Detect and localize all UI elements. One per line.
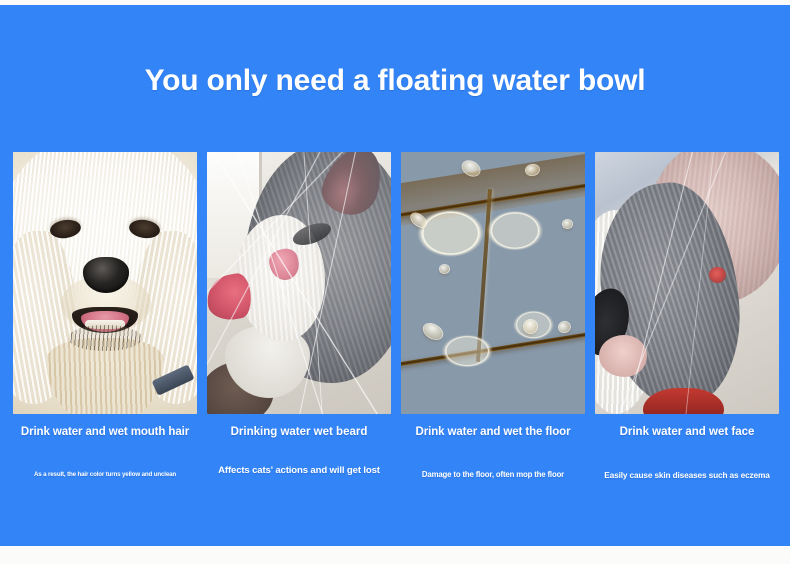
image-panel-row xyxy=(13,152,779,414)
caption-subtitle: As a result, the hair color turns yellow… xyxy=(13,469,197,481)
dog-chin-fur xyxy=(68,325,142,351)
image-panel-cat-beard xyxy=(207,152,391,414)
caption-cell-dog-mouth: Drink water and wet mouth hair As a resu… xyxy=(13,425,197,500)
caption-title: Drink water and wet face xyxy=(595,425,779,439)
caption-title: Drink water and wet the floor xyxy=(401,425,585,439)
caption-cell-wet-face: Drink water and wet face Easily cause sk… xyxy=(595,425,779,500)
cat-whiskers xyxy=(207,152,391,414)
top-white-edge xyxy=(0,0,790,5)
caption-cell-wet-floor: Drink water and wet the floor Damage to … xyxy=(401,425,585,500)
caption-title: Drink water and wet mouth hair xyxy=(13,425,197,439)
water-droplet xyxy=(563,220,572,228)
water-droplet xyxy=(440,265,449,273)
cat-chin-skin-irritation-photo xyxy=(595,152,779,414)
image-panel-wet-floor xyxy=(401,152,585,414)
cat-whiskers xyxy=(595,152,779,414)
caption-cell-cat-beard: Drinking water wet beard Affects cats' a… xyxy=(207,425,391,500)
caption-title: Drinking water wet beard xyxy=(207,425,391,439)
white-fluffy-dog-face-photo xyxy=(13,152,197,414)
caption-row: Drink water and wet mouth hair As a resu… xyxy=(13,425,779,500)
image-panel-wet-face xyxy=(595,152,779,414)
image-panel-dog-mouth xyxy=(13,152,197,414)
page-title: You only need a floating water bowl xyxy=(0,62,790,100)
caption-subtitle: Easily cause skin diseases such as eczem… xyxy=(595,469,779,481)
promo-banner: You only need a floating water bowl xyxy=(0,0,790,564)
caption-subtitle: Affects cats' actions and will get lost xyxy=(207,465,391,477)
water-puddle-edges xyxy=(401,152,585,414)
bottom-white-edge xyxy=(0,546,790,564)
caption-subtitle: Damage to the floor, often mop the floor xyxy=(401,469,585,481)
grey-white-cat-tongue-photo xyxy=(207,152,391,414)
water-spill-wooden-floor-photo xyxy=(401,152,585,414)
